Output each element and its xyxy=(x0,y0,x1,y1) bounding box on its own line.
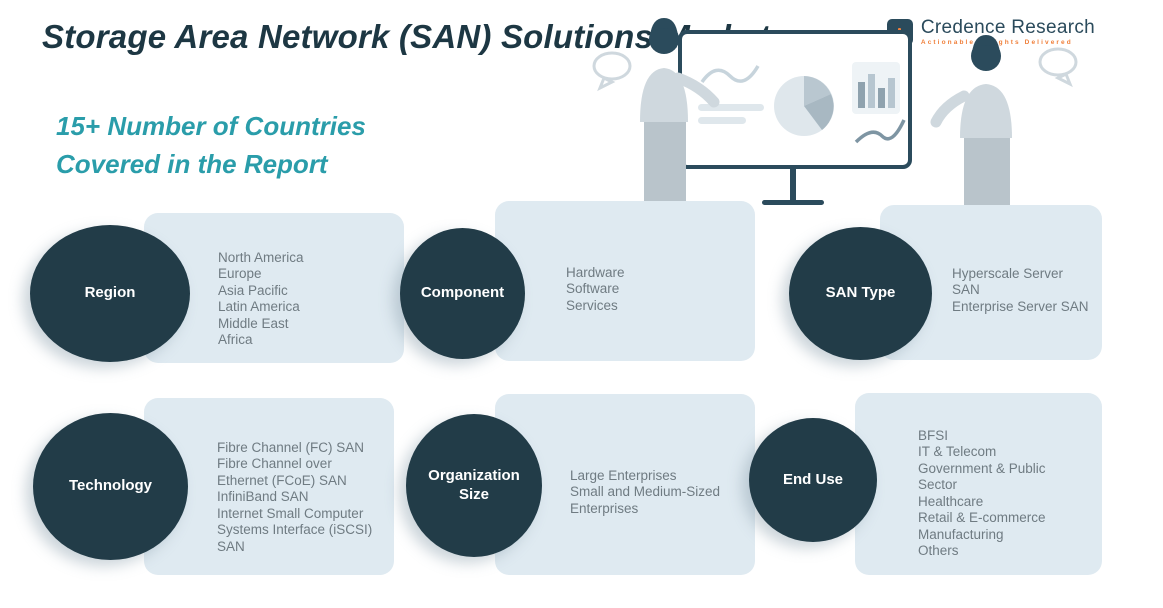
header-illustration xyxy=(590,4,1120,214)
segment-circle-component[interactable]: Component xyxy=(400,228,525,359)
segment-circle-technology[interactable]: Technology xyxy=(33,413,188,560)
segment-items-end-use: BFSI IT & Telecom Government & Public Se… xyxy=(918,428,1118,560)
segment-circle-san-type[interactable]: SAN Type xyxy=(789,227,932,360)
segment-circle-organization-size[interactable]: Organization Size xyxy=(406,414,542,557)
segment-items-organization-size: Large Enterprises Small and Medium-Sized… xyxy=(570,468,760,517)
segment-circle-end-use[interactable]: End Use xyxy=(749,418,877,542)
segment-items-technology: Fibre Channel (FC) SAN Fibre Channel ove… xyxy=(217,440,407,555)
segment-items-san-type: Hyperscale Server SAN Enterprise Server … xyxy=(952,266,1142,315)
segment-circle-region[interactable]: Region xyxy=(30,225,190,362)
page-subtitle: 15+ Number of Countries Covered in the R… xyxy=(56,108,366,183)
segment-items-component: Hardware Software Services xyxy=(566,265,746,314)
segment-items-region: North America Europe Asia Pacific Latin … xyxy=(218,250,398,349)
